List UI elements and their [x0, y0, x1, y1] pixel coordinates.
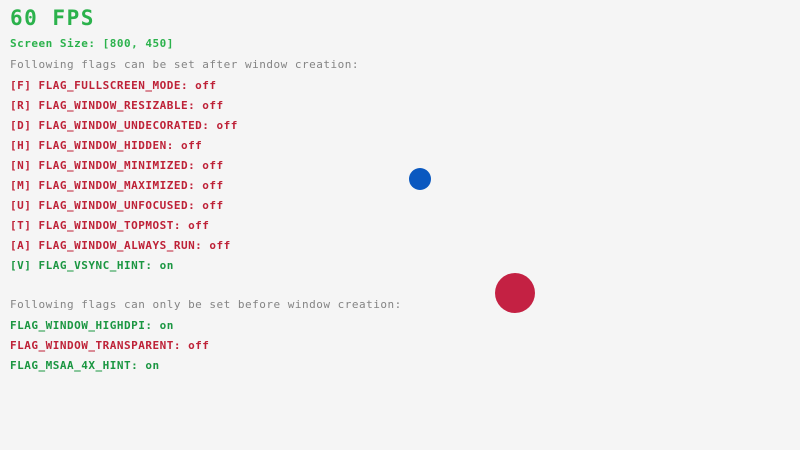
- hud-text-layer: 60 FPS Screen Size: [800, 450] Following…: [0, 0, 800, 450]
- raylib-window-flags-demo: 60 FPS Screen Size: [800, 450] Following…: [0, 0, 800, 450]
- section-header-before-creation: Following flags can only be set before w…: [10, 299, 402, 310]
- flag-line-window-minimized[interactable]: [N] FLAG_WINDOW_MINIMIZED: off: [10, 160, 224, 171]
- flag-line-msaa-4x-hint: FLAG_MSAA_4X_HINT: on: [10, 360, 160, 371]
- flag-line-window-transparent: FLAG_WINDOW_TRANSPARENT: off: [10, 340, 209, 351]
- fps-counter: 60 FPS: [10, 8, 95, 29]
- flag-line-window-resizable[interactable]: [R] FLAG_WINDOW_RESIZABLE: off: [10, 100, 224, 111]
- flag-line-window-unfocused[interactable]: [U] FLAG_WINDOW_UNFOCUSED: off: [10, 200, 224, 211]
- flag-line-window-topmost[interactable]: [T] FLAG_WINDOW_TOPMOST: off: [10, 220, 209, 231]
- flag-line-window-highdpi: FLAG_WINDOW_HIGHDPI: on: [10, 320, 174, 331]
- flag-line-window-hidden[interactable]: [H] FLAG_WINDOW_HIDDEN: off: [10, 140, 202, 151]
- section-header-after-creation: Following flags can be set after window …: [10, 59, 359, 70]
- flag-line-window-undecorated[interactable]: [D] FLAG_WINDOW_UNDECORATED: off: [10, 120, 238, 131]
- flag-line-window-maximized[interactable]: [M] FLAG_WINDOW_MAXIMIZED: off: [10, 180, 224, 191]
- flag-line-window-always-run[interactable]: [A] FLAG_WINDOW_ALWAYS_RUN: off: [10, 240, 231, 251]
- flag-line-vsync-hint[interactable]: [V] FLAG_VSYNC_HINT: on: [10, 260, 174, 271]
- flag-line-fullscreen-mode[interactable]: [F] FLAG_FULLSCREEN_MODE: off: [10, 80, 217, 91]
- screen-size-label: Screen Size: [800, 450]: [10, 38, 174, 49]
